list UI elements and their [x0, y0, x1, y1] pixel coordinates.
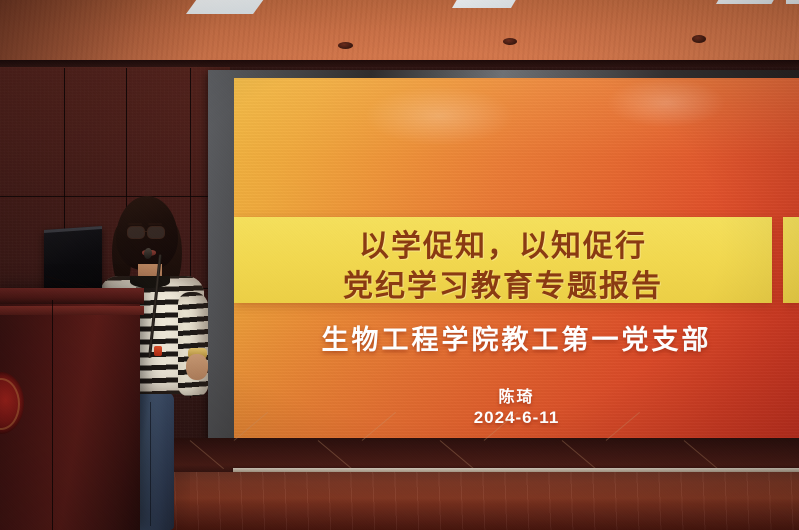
right-arm [178, 292, 208, 396]
slide-title-line2: 党纪学习教育专题报告 [234, 261, 772, 305]
base-brace [684, 440, 718, 469]
base-brace [318, 440, 352, 469]
ceiling-downlight-icon [338, 42, 353, 49]
eyebrow [148, 223, 162, 225]
slide-title-banner-accent [783, 217, 799, 303]
ceiling-downlight-icon [692, 35, 706, 43]
slide-title-line1: 以学促知，以知促行 [234, 221, 772, 265]
slide-presenter-name: 陈琦 [234, 383, 799, 407]
shirt-collar [130, 276, 170, 288]
slide-title-banner: 以学促知，以知促行 党纪学习教育专题报告 [234, 217, 772, 303]
slide-subtitle: 生物工程学院教工第一党支部 [234, 318, 799, 357]
ceiling-downlight-icon [503, 38, 517, 45]
glasses-icon [143, 231, 147, 232]
right-hand [186, 354, 208, 380]
lectern-lip [0, 306, 144, 315]
led-video-wall[interactable]: 以学促知，以知促行 党纪学习教育专题报告 生物工程学院教工第一党支部 陈琦 20… [234, 78, 799, 438]
jeans-seam [150, 402, 151, 526]
lectern-seam [52, 300, 53, 530]
glasses-icon [127, 226, 145, 239]
lapel-badge-icon [154, 346, 162, 356]
wall-top-trim [0, 60, 799, 67]
glasses-icon [147, 226, 165, 239]
presentation-photo-scene: 以学促知，以知促行 党纪学习教育专题报告 生物工程学院教工第一党支部 陈琦 20… [0, 0, 799, 530]
ceiling-light-panel [786, 0, 799, 4]
eyebrow [128, 223, 142, 225]
lectern-top [0, 288, 144, 304]
base-brace [562, 440, 596, 469]
base-brace [440, 440, 474, 469]
laptop[interactable] [44, 226, 102, 296]
